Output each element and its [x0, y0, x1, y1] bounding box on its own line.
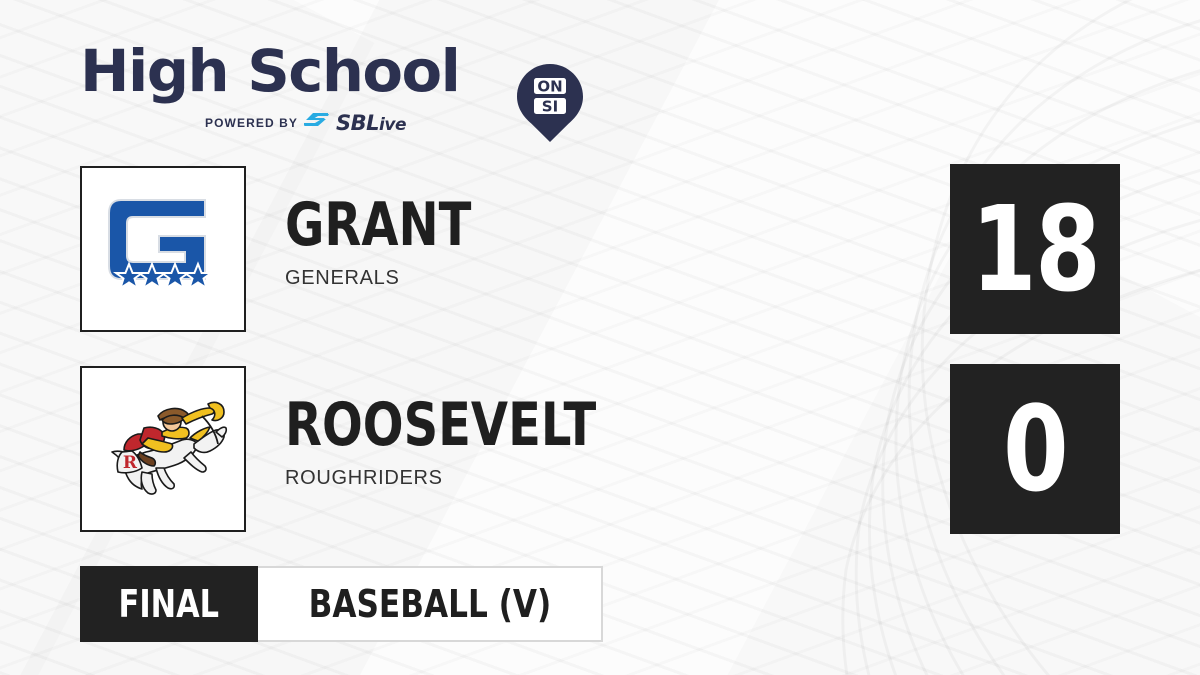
team-score-box-grant: 18 — [950, 164, 1120, 334]
status-badge: FINAL — [80, 566, 258, 642]
saddle-initial: R — [123, 453, 138, 473]
team-logo-box-grant — [80, 166, 246, 332]
sblive-suffix: ive — [379, 117, 406, 134]
sport-label: BASEBALL (V) — [308, 582, 551, 626]
sblive-mark-icon — [304, 112, 330, 134]
sport-label-box: BASEBALL (V) — [258, 566, 604, 642]
background-arc-lines — [600, 0, 1200, 675]
team-name: GRANT — [285, 196, 471, 255]
team-mascot: GENERALS — [285, 267, 518, 290]
high-school-on-si-logo: High School ON SI POWERED BY SBLive — [80, 34, 510, 134]
sblive-name: SBL — [336, 113, 379, 134]
scoreboard-graphic: High School ON SI POWERED BY SBLive — [0, 0, 1200, 675]
team-mascot: ROUGHRIDERS — [285, 467, 674, 490]
team-info-roosevelt: ROOSEVELT ROUGHRIDERS — [285, 396, 674, 490]
roosevelt-roughrider-logo: R — [98, 394, 228, 504]
team-name: ROOSEVELT — [285, 396, 596, 455]
pin-bottom-label: SI — [542, 98, 558, 116]
sblive-wordmark: SBLive — [336, 113, 406, 134]
on-si-pin-icon: ON SI — [517, 64, 583, 142]
powered-by-sblive: POWERED BY SBLive — [205, 112, 406, 134]
grant-g-stars-logo — [103, 194, 223, 304]
team-logo-box-roosevelt: R — [80, 366, 246, 532]
team-info-grant: GRANT GENERALS — [285, 196, 518, 290]
team-score: 18 — [971, 190, 1099, 308]
team-score-box-roosevelt: 0 — [950, 364, 1120, 534]
game-status-bar: FINAL BASEBALL (V) — [80, 566, 603, 642]
brand-title: High School — [80, 42, 459, 100]
team-score: 0 — [1003, 390, 1067, 508]
pin-top-label: ON — [537, 78, 562, 96]
powered-by-label: POWERED BY — [205, 116, 298, 130]
status-state-label: FINAL — [119, 582, 219, 626]
